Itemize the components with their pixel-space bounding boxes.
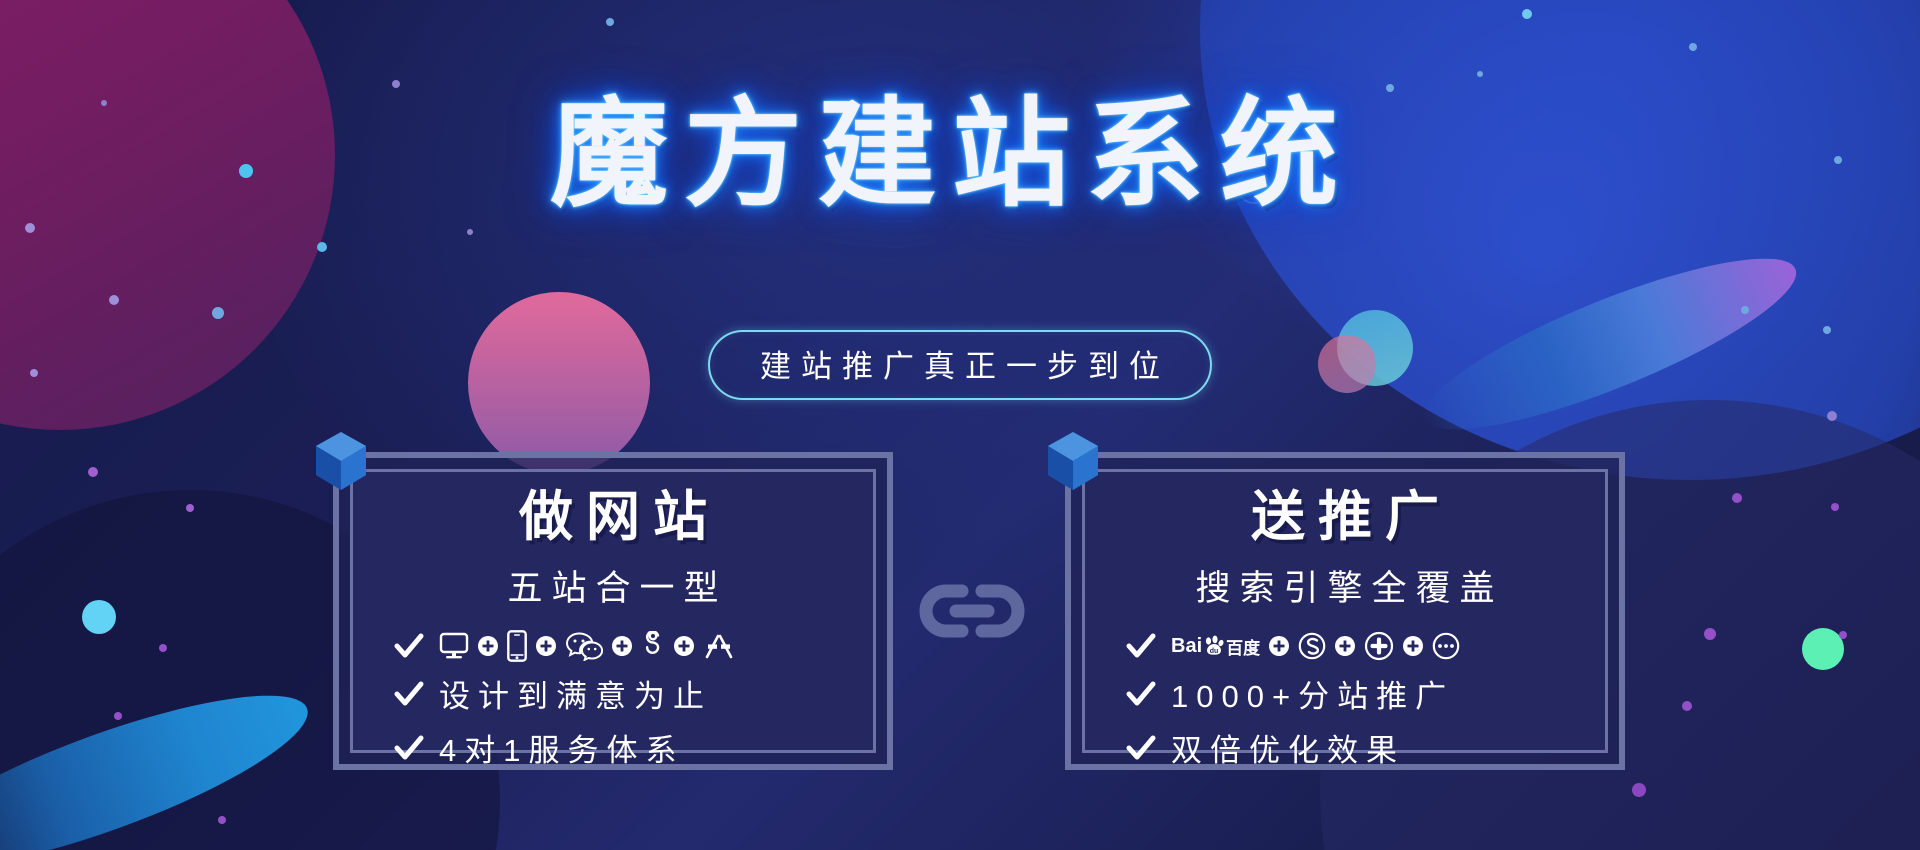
title-block: 魔方建站系统: [0, 88, 1920, 224]
star-dot: [1689, 43, 1697, 51]
panel-build-website-inner: 做网站 五站合一型: [350, 469, 876, 753]
star-dot: [1839, 631, 1847, 639]
plus-icon: [477, 635, 499, 657]
panel-subheading: 五站合一型: [498, 560, 727, 611]
baidu-paw-icon: du: [1203, 635, 1225, 657]
plus-icon: [1402, 635, 1424, 657]
star-dot: [186, 504, 194, 512]
star-dot: [1741, 306, 1749, 314]
page-title: 魔方建站系统: [550, 88, 1370, 224]
monitor-icon: [439, 631, 469, 661]
more-ellipsis-icon: [1432, 632, 1460, 660]
platform-icon-strip: [439, 630, 735, 662]
feature-text: 设计到满意为止: [439, 671, 712, 716]
plus-icon: [1268, 635, 1290, 657]
panel-heading: 做网站: [506, 488, 720, 547]
star-dot: [25, 223, 35, 233]
baidu-logo-icon: Bai du 百度: [1171, 634, 1260, 659]
feature-row-design: 设计到满意为止: [353, 671, 873, 716]
star-dot: [467, 229, 473, 235]
feature-row-optimization: 双倍优化效果: [1085, 725, 1605, 770]
feature-text: 4对1服务体系: [439, 725, 684, 770]
feature-text: 双倍优化效果: [1171, 725, 1405, 770]
gem-cube-icon: [1045, 430, 1101, 492]
search-engine-icon-strip: Bai du 百度: [1171, 631, 1460, 661]
check-icon: [1125, 732, 1157, 764]
check-icon: [393, 678, 425, 710]
chain-link-icon: [912, 578, 1032, 644]
panel-heading: 送推广: [1238, 488, 1452, 547]
promo-banner: 魔方建站系统 建站推广真正一步到位 做网站 五站合一型: [0, 0, 1920, 850]
plus-icon: [1334, 635, 1356, 657]
star-dot: [114, 712, 122, 720]
feature-row-subsites: 1000+分站推广: [1085, 671, 1605, 716]
baidu-label-du: du: [1210, 648, 1219, 655]
cyan-dot: [82, 600, 116, 634]
star-dot: [317, 242, 327, 252]
pink-planet: [468, 292, 650, 474]
feature-row-search-engines: Bai du 百度: [1085, 630, 1605, 662]
pink-bubble: [1318, 335, 1376, 393]
star-dot: [392, 80, 400, 88]
plus-icon: [673, 635, 695, 657]
star-dot: [109, 295, 119, 305]
panel-free-promotion[interactable]: 送推广 搜索引擎全覆盖 Bai du: [1065, 452, 1625, 770]
feature-row-platforms: [353, 630, 873, 662]
feature-text: 1000+分站推广: [1171, 671, 1454, 716]
mobile-phone-icon: [507, 630, 527, 662]
sogou-icon: [1298, 632, 1326, 660]
gem-cube-icon: [313, 430, 369, 492]
check-icon: [393, 732, 425, 764]
star-dot: [1704, 628, 1716, 640]
plus-icon: [611, 635, 633, 657]
mint-dot: [1802, 628, 1844, 670]
star-dot: [218, 816, 226, 824]
baidu-label-cn: 百度: [1226, 634, 1260, 659]
baidu-label-en: Bai: [1171, 635, 1202, 658]
star-dot: [159, 644, 167, 652]
app-store-icon: [703, 631, 735, 661]
star-dot: [1827, 411, 1837, 421]
star-dot: [88, 467, 98, 477]
subtitle-text: 建站推广真正一步到位: [750, 341, 1170, 386]
wechat-icon: [565, 631, 603, 661]
star-dot: [30, 369, 38, 377]
star-dot: [1732, 493, 1742, 503]
star-dot: [1477, 71, 1483, 77]
star-dot: [606, 18, 614, 26]
panel-free-promotion-inner: 送推广 搜索引擎全覆盖 Bai du: [1082, 469, 1608, 753]
check-icon: [1125, 678, 1157, 710]
plus-icon: [535, 635, 557, 657]
subtitle-pill: 建站推广真正一步到位: [708, 330, 1212, 400]
star-dot: [1682, 701, 1692, 711]
star-dot: [1823, 326, 1831, 334]
check-icon: [393, 630, 425, 662]
360-search-icon: [1364, 631, 1394, 661]
star-dot: [1632, 783, 1646, 797]
star-dot: [1831, 503, 1839, 511]
feature-row-service: 4对1服务体系: [353, 725, 873, 770]
panel-subheading: 搜索引擎全覆盖: [1186, 560, 1503, 611]
star-dot: [1522, 9, 1532, 19]
mini-program-icon: [641, 631, 665, 661]
check-icon: [1125, 630, 1157, 662]
panel-build-website[interactable]: 做网站 五站合一型: [333, 452, 893, 770]
star-dot: [212, 307, 224, 319]
